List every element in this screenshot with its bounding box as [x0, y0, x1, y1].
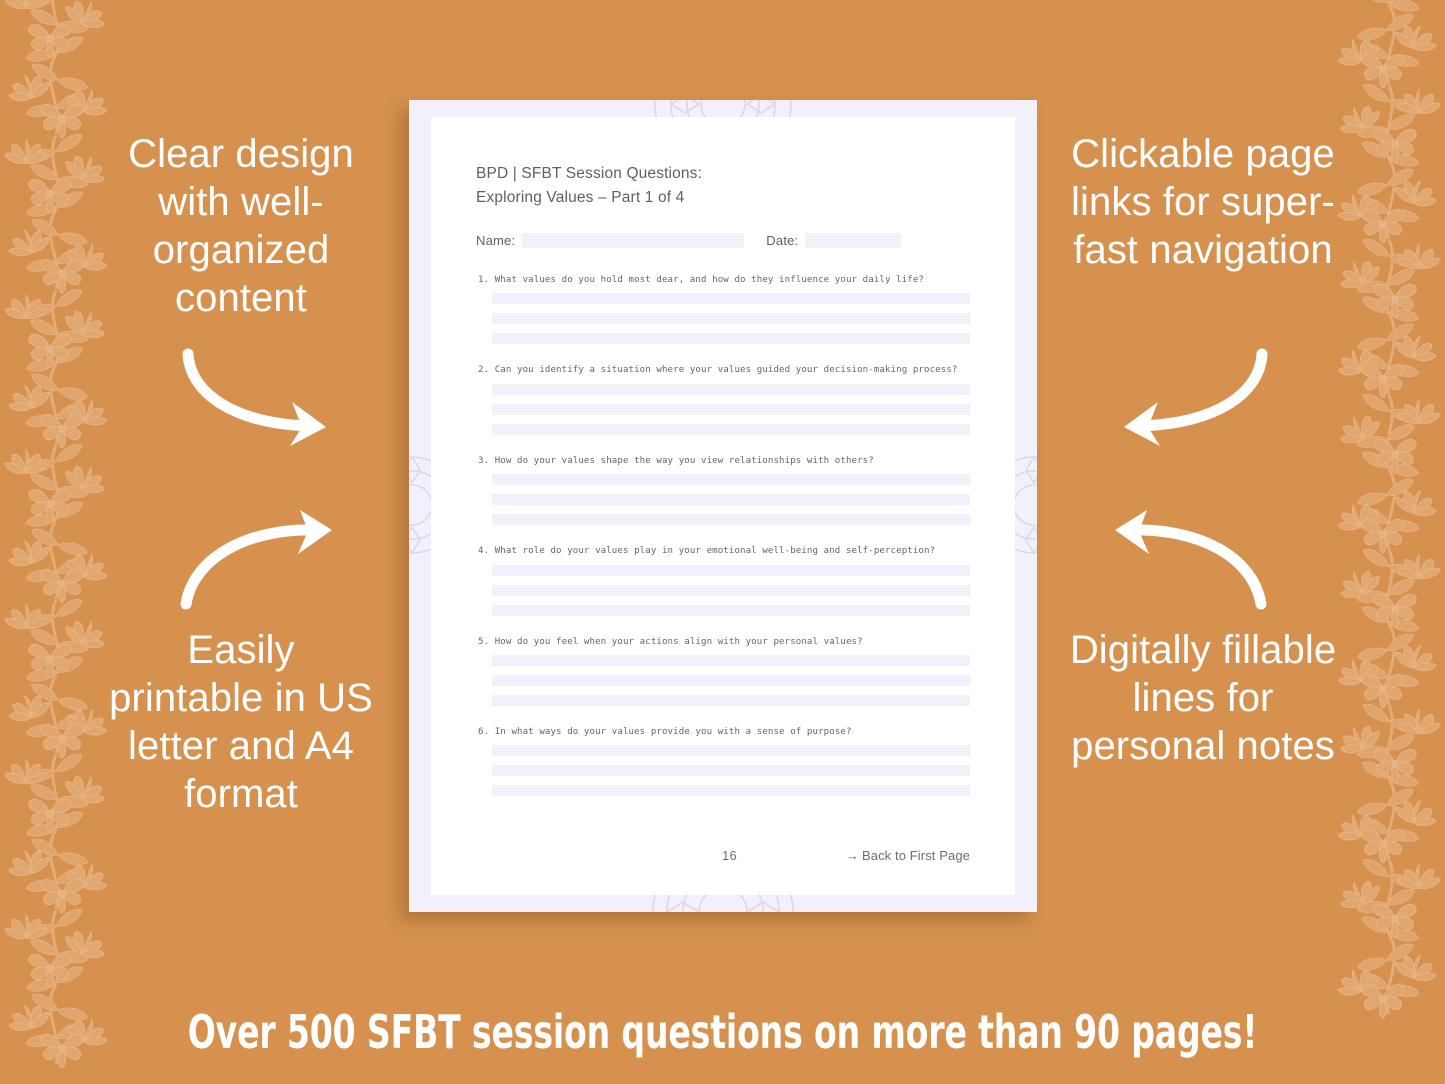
question-text: 2. Can you identify a situation where yo…: [478, 365, 970, 376]
answer-line[interactable]: [492, 384, 970, 395]
promo-text-clear-design: Clear design with well-organized content: [106, 130, 376, 322]
banner-text: Over 500 SFBT session questions on more …: [188, 1005, 1258, 1059]
worksheet-title-line2: Exploring Values – Part 1 of 4: [476, 189, 684, 206]
question-block: 5. How do you feel when your actions ali…: [476, 637, 970, 706]
document-preview[interactable]: BPD | SFBT Session Questions: Exploring …: [409, 100, 1037, 912]
answer-line[interactable]: [492, 404, 970, 415]
question-block: 3. How do your values shape the way you …: [476, 456, 970, 525]
back-to-first-page-label: Back to First Page: [862, 848, 970, 863]
curved-arrow-icon-top-right: [1100, 352, 1270, 448]
date-input[interactable]: [805, 233, 901, 248]
arrow-right-icon: →: [846, 848, 859, 863]
answer-line[interactable]: [492, 313, 970, 324]
bottom-banner: Over 500 SFBT session questions on more …: [0, 980, 1445, 1084]
promo-text-printable: Easily printable in US letter and A4 for…: [106, 626, 376, 818]
answer-line[interactable]: [492, 474, 970, 485]
question-block: 1. What values do you hold most dear, an…: [476, 275, 970, 344]
worksheet-page: BPD | SFBT Session Questions: Exploring …: [431, 117, 1015, 895]
answer-lines: [492, 745, 970, 796]
question-text: 6. In what ways do your values provide y…: [478, 727, 970, 738]
curved-arrow-icon-top-left: [180, 352, 350, 448]
worksheet-title-line1: BPD | SFBT Session Questions:: [476, 165, 702, 182]
answer-lines: [492, 384, 970, 435]
answer-lines: [492, 655, 970, 706]
answer-line[interactable]: [492, 655, 970, 666]
answer-lines: [492, 293, 970, 344]
floral-border-right: [1333, 0, 1445, 1084]
worksheet-footer: 16 →Back to First Page: [476, 848, 970, 863]
answer-line[interactable]: [492, 745, 970, 756]
question-block: 6. In what ways do your values provide y…: [476, 727, 970, 796]
answer-line[interactable]: [492, 333, 970, 344]
answer-line[interactable]: [492, 514, 970, 525]
answer-line[interactable]: [492, 293, 970, 304]
answer-line[interactable]: [492, 494, 970, 505]
question-list: 1. What values do you hold most dear, an…: [476, 275, 970, 796]
curved-arrow-icon-bottom-right: [1096, 508, 1271, 612]
answer-line[interactable]: [492, 695, 970, 706]
question-text: 4. What role do your values play in your…: [478, 546, 970, 557]
answer-line[interactable]: [492, 785, 970, 796]
answer-line[interactable]: [492, 675, 970, 686]
question-block: 4. What role do your values play in your…: [476, 546, 970, 615]
question-block: 2. Can you identify a situation where yo…: [476, 365, 970, 434]
name-date-row: Name: Date:: [476, 233, 970, 248]
page-number: 16: [722, 848, 737, 863]
worksheet-title: BPD | SFBT Session Questions: Exploring …: [476, 162, 970, 209]
answer-lines: [492, 474, 970, 525]
date-label: Date:: [766, 233, 798, 248]
answer-line[interactable]: [492, 765, 970, 776]
promo-text-clickable-links: Clickable page links for super-fast navi…: [1068, 130, 1338, 274]
name-input[interactable]: [522, 233, 744, 248]
answer-line[interactable]: [492, 585, 970, 596]
back-to-first-page-link[interactable]: →Back to First Page: [846, 848, 970, 863]
curved-arrow-icon-bottom-left: [176, 508, 351, 612]
answer-line[interactable]: [492, 424, 970, 435]
question-text: 1. What values do you hold most dear, an…: [478, 275, 970, 286]
answer-line[interactable]: [492, 605, 970, 616]
name-label: Name:: [476, 233, 515, 248]
floral-border-left: [0, 0, 112, 1084]
question-text: 3. How do your values shape the way you …: [478, 456, 970, 467]
answer-lines: [492, 565, 970, 616]
promo-text-fillable-lines: Digitally fillable lines for personal no…: [1068, 626, 1338, 770]
question-text: 5. How do you feel when your actions ali…: [478, 637, 970, 648]
answer-line[interactable]: [492, 565, 970, 576]
